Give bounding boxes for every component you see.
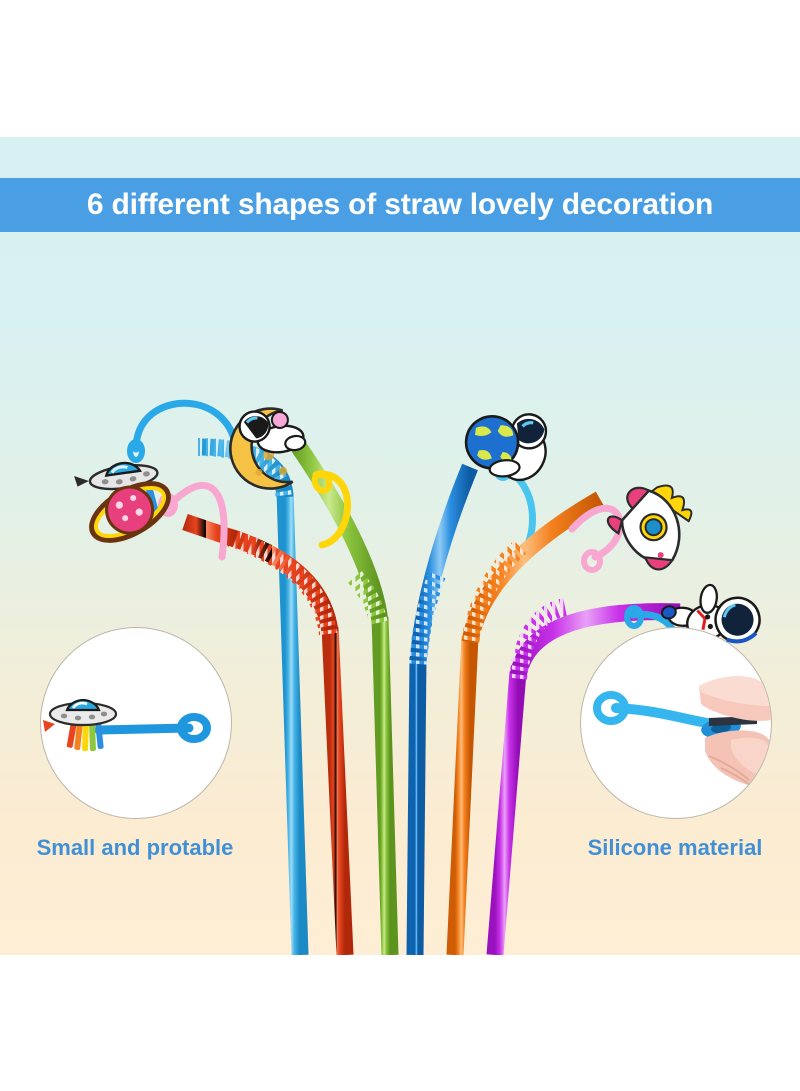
feature-circle-small-and-portable [40,627,232,819]
charm-rocket [602,469,708,575]
feature-caption-silicone-material: Silicone material [560,835,790,861]
ufo-charm-with-strap-illustration [41,628,231,818]
fingers-bending-strap-illustration [581,628,771,818]
charm-moon-astronaut [225,404,311,494]
feature-circle-silicone-material [580,627,772,819]
charm-earth-astronaut [461,406,558,490]
feature-caption-small-and-portable: Small and protable [20,835,250,861]
feature-small-and-portable: Small and protable [20,627,250,861]
product-image-panel: 6 different shapes of straw lovely decor… [0,137,800,955]
feature-silicone-material: Silicone material [560,627,790,861]
